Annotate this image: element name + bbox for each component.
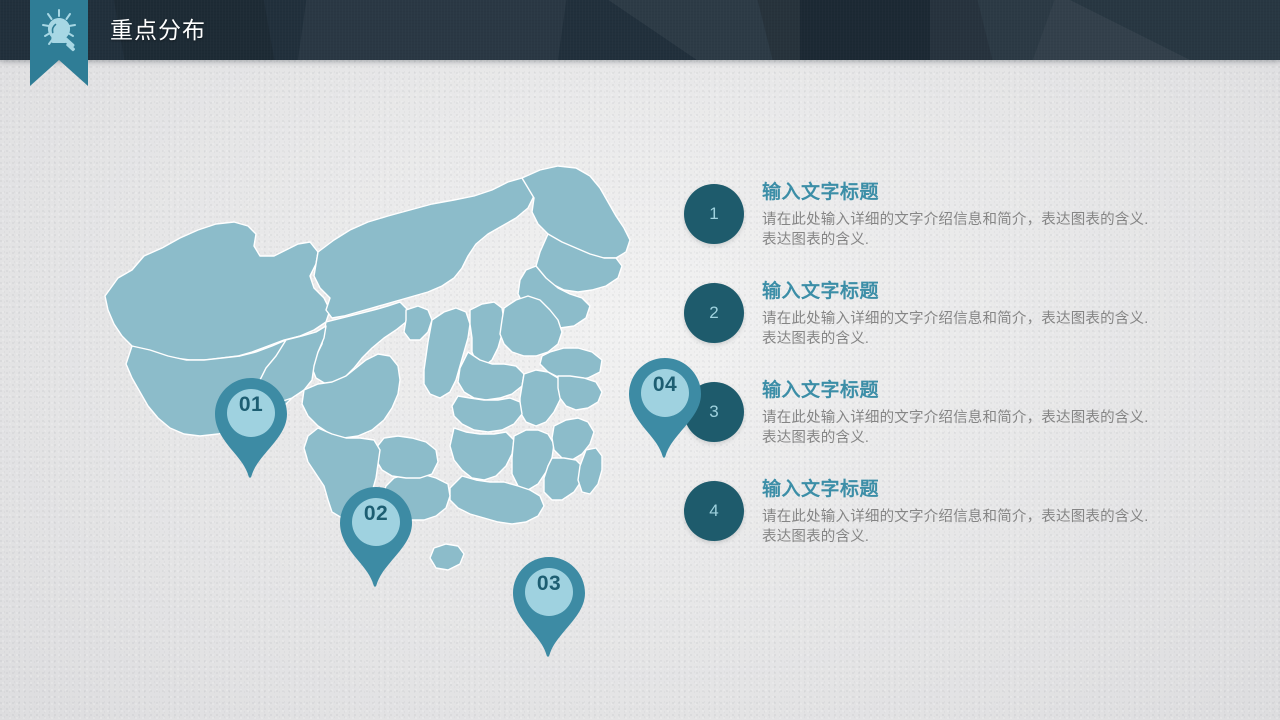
map-pin-icon — [626, 356, 704, 460]
map-marker-01[interactable]: 01 — [212, 376, 290, 480]
list-item-title: 输入文字标题 — [762, 477, 1174, 503]
info-list: 1输入文字标题请在此处输入详细的文字介绍信息和简介，表达图表的含义.表达图表的含… — [684, 180, 1174, 576]
province-jiangsu — [558, 376, 602, 410]
header-badge — [30, 0, 88, 60]
map-marker-02[interactable]: 02 — [337, 485, 415, 589]
list-item-description: 请在此处输入详细的文字介绍信息和简介，表达图表的含义.表达图表的含义. — [762, 507, 1154, 547]
province-hainan — [430, 544, 464, 570]
province-hunan — [450, 428, 514, 480]
province-ningxia — [404, 306, 432, 340]
list-item-number: 1 — [684, 184, 744, 244]
lightbulb-icon — [30, 0, 88, 60]
province-anhui — [520, 370, 562, 426]
list-item-title: 输入文字标题 — [762, 279, 1174, 305]
list-item-description: 请在此处输入详细的文字介绍信息和简介，表达图表的含义.表达图表的含义. — [762, 309, 1154, 349]
map-pin-icon — [337, 485, 415, 589]
province-guizhou — [376, 436, 438, 478]
list-item-number: 2 — [684, 283, 744, 343]
list-item[interactable]: 3输入文字标题请在此处输入详细的文字介绍信息和简介，表达图表的含义.表达图表的含… — [684, 378, 1174, 470]
list-item[interactable]: 4输入文字标题请在此处输入详细的文字介绍信息和简介，表达图表的含义.表达图表的含… — [684, 477, 1174, 569]
list-item-title: 输入文字标题 — [762, 378, 1174, 404]
map-marker-03[interactable]: 03 — [510, 555, 588, 659]
list-item[interactable]: 1输入文字标题请在此处输入详细的文字介绍信息和简介，表达图表的含义.表达图表的含… — [684, 180, 1174, 272]
page-title: 重点分布 — [110, 0, 206, 60]
province-hubei — [452, 396, 522, 432]
province-heilongjiang — [522, 166, 630, 258]
province-inner-mongolia — [314, 178, 534, 318]
list-item-description: 请在此处输入详细的文字介绍信息和简介，表达图表的含义.表达图表的含义. — [762, 408, 1154, 448]
map-marker-04[interactable]: 04 — [626, 356, 704, 460]
map-pin-icon — [510, 555, 588, 659]
list-item-title: 输入文字标题 — [762, 180, 1174, 206]
map-pin-icon — [212, 376, 290, 480]
list-item[interactable]: 2输入文字标题请在此处输入详细的文字介绍信息和简介，表达图表的含义.表达图表的含… — [684, 279, 1174, 371]
list-item-number: 4 — [684, 481, 744, 541]
header-badge-tail — [30, 60, 88, 86]
list-item-description: 请在此处输入详细的文字介绍信息和简介，表达图表的含义.表达图表的含义. — [762, 210, 1154, 250]
slide-root: 重点分布 — [0, 0, 1280, 720]
